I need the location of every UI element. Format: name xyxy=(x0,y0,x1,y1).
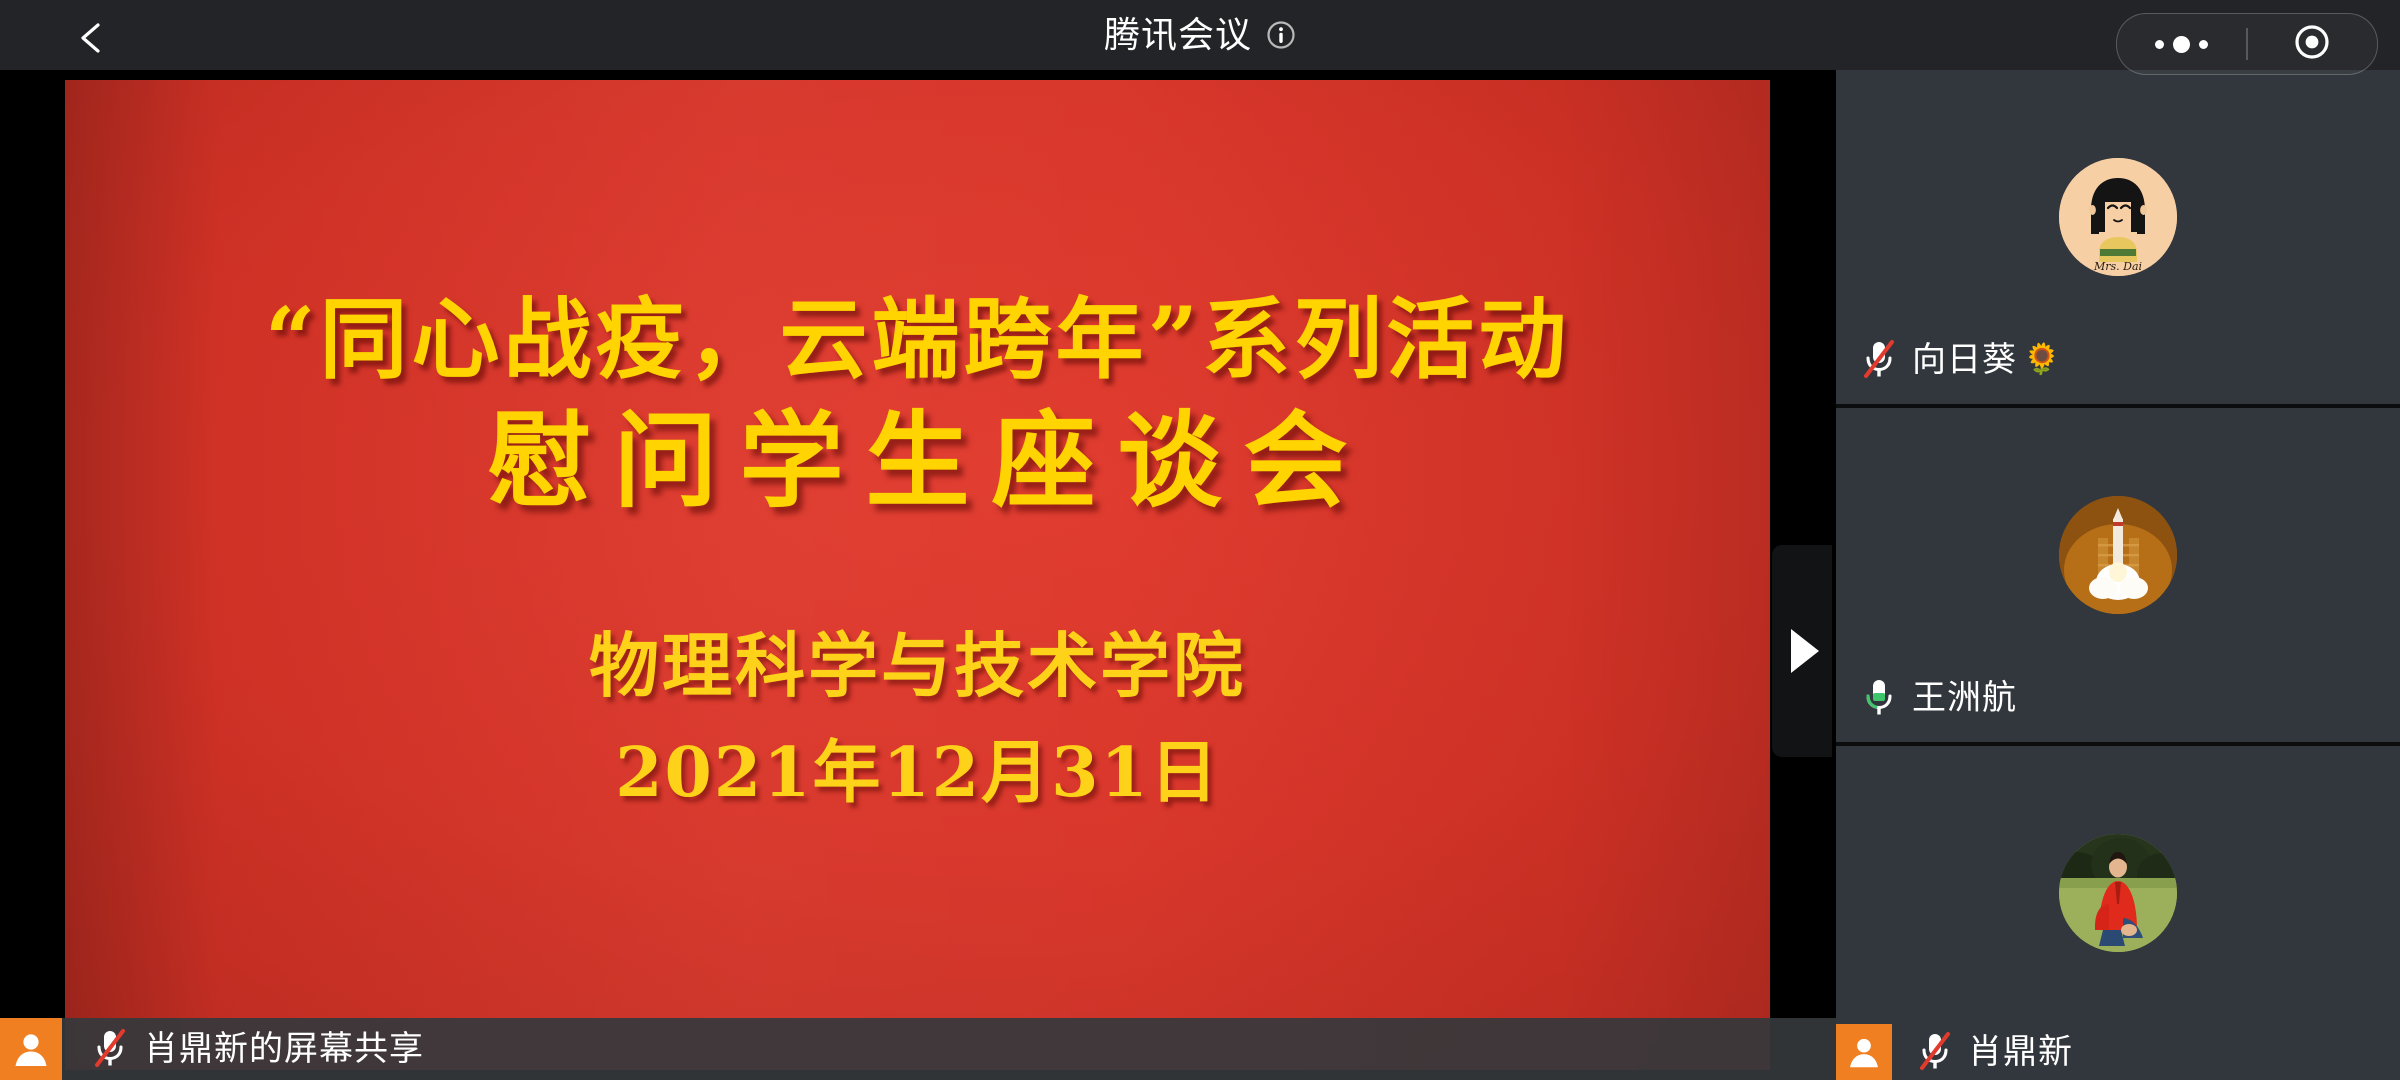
participant-sidebar: Mrs. Dai 向日葵 🌻 xyxy=(1836,70,2400,1080)
shared-screen-stage[interactable]: “同心战疫，云端跨年”系列活动 慰问学生座谈会 物理科学与技术学院 2021年1… xyxy=(0,70,1836,1080)
slide-date: 2021年12月31日 xyxy=(615,736,1220,811)
participant-footer: 向日葵 🌻 xyxy=(1836,332,2061,388)
avatar xyxy=(2059,496,2177,614)
mic-muted-icon xyxy=(90,1027,130,1071)
info-circle-icon[interactable] xyxy=(1266,20,1296,50)
participant-tile[interactable]: 肖鼎新 xyxy=(1836,746,2400,1080)
navbar: 腾讯会议 xyxy=(0,0,2400,70)
close-miniprogram-button[interactable] xyxy=(2248,14,2377,74)
svg-text:Mrs. Dai: Mrs. Dai xyxy=(2093,260,2142,273)
slide-title-line-1: “同心战疫，云端跨年”系列活动 xyxy=(265,292,1570,387)
target-circle-icon xyxy=(2293,23,2331,66)
page-title: 腾讯会议 xyxy=(1104,17,1252,53)
screen-share-status-bar: 肖鼎新的屏幕共享 xyxy=(0,1018,1836,1080)
presentation-slide: “同心战疫，云端跨年”系列活动 慰问学生座谈会 物理科学与技术学院 2021年1… xyxy=(65,80,1770,1070)
participant-name-group: 王洲航 xyxy=(1912,681,2017,715)
participant-tile[interactable]: Mrs. Dai 向日葵 🌻 xyxy=(1836,70,2400,408)
more-dots-icon xyxy=(2155,36,2208,53)
mic-active-icon[interactable] xyxy=(1858,675,1900,721)
wechat-capsule xyxy=(2116,13,2378,75)
back-button[interactable] xyxy=(72,18,112,58)
participant-footer: 肖鼎新 xyxy=(1836,1024,2073,1080)
participant-footer: 王洲航 xyxy=(1836,670,2017,726)
chevron-left-icon xyxy=(72,18,112,58)
participant-name-group: 肖鼎新 xyxy=(1968,1035,2073,1069)
sunflower-emoji: 🌻 xyxy=(2023,345,2061,375)
participant-name: 向日葵 xyxy=(1912,343,2017,377)
avatar xyxy=(2059,834,2177,952)
host-person-icon xyxy=(1836,1024,1892,1080)
triangle-right-icon xyxy=(1791,629,1819,673)
participant-name: 肖鼎新 xyxy=(1968,1035,2073,1069)
screen-share-label: 肖鼎新的屏幕共享 xyxy=(144,1032,424,1066)
participant-name: 王洲航 xyxy=(1912,681,2017,715)
host-person-icon xyxy=(0,1018,62,1080)
participant-name-group: 向日葵 🌻 xyxy=(1912,343,2061,377)
participant-tile[interactable]: 王洲航 xyxy=(1836,408,2400,746)
navbar-title-group: 腾讯会议 xyxy=(0,0,2400,70)
mic-muted-icon[interactable] xyxy=(1914,1029,1956,1075)
tencent-meeting-screen: 腾讯会议 xyxy=(0,0,2400,1080)
more-button[interactable] xyxy=(2117,14,2246,74)
slide-title-line-2: 慰问学生座谈会 xyxy=(465,405,1369,517)
avatar: Mrs. Dai xyxy=(2059,158,2177,276)
mic-muted-icon[interactable] xyxy=(1858,337,1900,383)
slide-organization: 物理科学与技术学院 xyxy=(589,627,1246,704)
panel-toggle-button[interactable] xyxy=(1772,545,1832,757)
